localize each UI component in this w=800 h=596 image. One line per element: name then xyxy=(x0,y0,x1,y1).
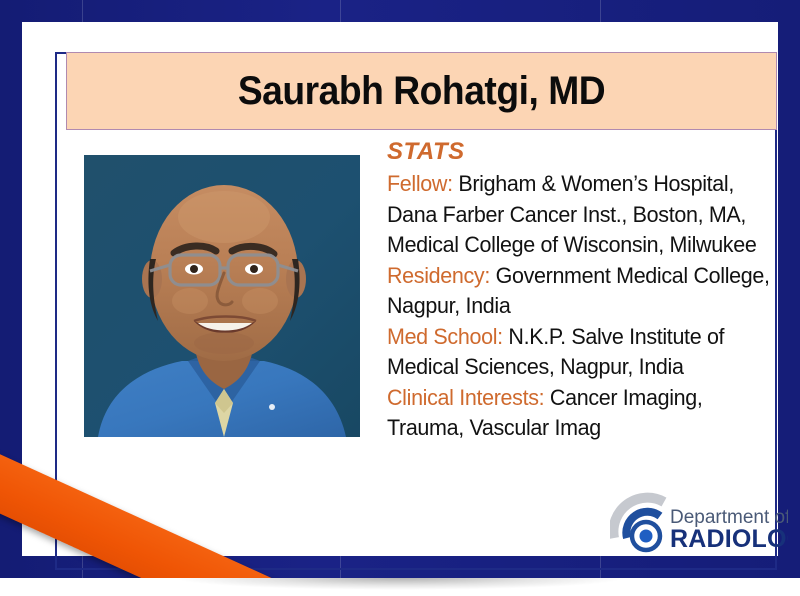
page-title: Saurabh Rohatgi, MD xyxy=(238,69,605,114)
stat-label: Residency: xyxy=(387,263,490,288)
stat-line: Med School: N.K.P. Salve Institute of xyxy=(387,322,761,353)
logo-line2-text: RADIOLOGY xyxy=(670,525,788,553)
stat-value: Nagpur, India xyxy=(387,293,510,318)
specialty-ribbon: Neuroradiology xyxy=(0,448,460,578)
department-radiology-logo: Department of RADIOLOGY xyxy=(610,492,788,554)
stat-label: Fellow: xyxy=(387,171,453,196)
stat-line: Residency: Government Medical College, xyxy=(387,261,761,292)
title-banner: Saurabh Rohatgi, MD xyxy=(66,52,777,130)
stat-line: Medical College of Wisconsin, Milwukee xyxy=(387,230,761,261)
stat-line: Medical Sciences, Nagpur, India xyxy=(387,352,761,383)
card-drop-shadow xyxy=(0,578,800,596)
stat-value: Brigham & Women’s Hospital, xyxy=(453,171,734,196)
stats-block: STATS Fellow: Brigham & Women’s Hospital… xyxy=(387,138,779,444)
stat-value: Trauma, Vascular Imag xyxy=(387,415,601,440)
stat-line: Nagpur, India xyxy=(387,291,761,322)
faculty-profile-card: Saurabh Rohatgi, MD xyxy=(0,0,800,596)
navy-frame: Saurabh Rohatgi, MD xyxy=(0,0,800,578)
stat-value: Dana Farber Cancer Inst., Boston, MA, xyxy=(387,202,746,227)
stat-value: Medical Sciences, Nagpur, India xyxy=(387,354,684,379)
stat-label: Clinical Interests: xyxy=(387,385,544,410)
stat-value: Government Medical College, xyxy=(490,263,770,288)
stat-value: N.K.P. Salve Institute of xyxy=(503,324,724,349)
stat-line: Dana Farber Cancer Inst., Boston, MA, xyxy=(387,200,761,231)
stat-line: Fellow: Brigham & Women’s Hospital, xyxy=(387,169,761,200)
card-body: Saurabh Rohatgi, MD xyxy=(22,22,778,556)
stat-value: Cancer Imaging, xyxy=(544,385,702,410)
portrait-photo xyxy=(84,155,360,437)
stat-value: Medical College of Wisconsin, Milwukee xyxy=(387,232,756,257)
stat-label: Med School: xyxy=(387,324,503,349)
stat-line: Clinical Interests: Cancer Imaging, xyxy=(387,383,761,414)
stat-line: Trauma, Vascular Imag xyxy=(387,413,761,444)
stats-heading: STATS xyxy=(387,138,779,166)
